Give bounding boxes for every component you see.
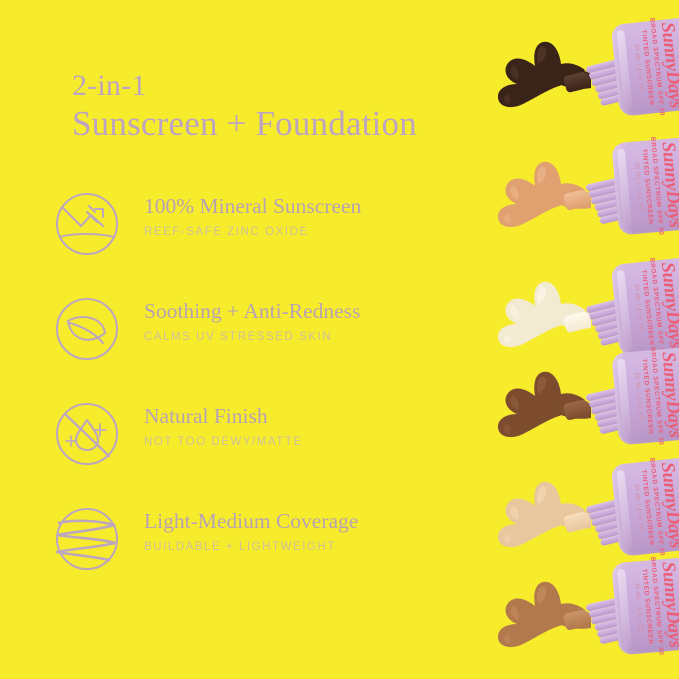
feature-item-natural-finish: Natural Finish NOT TOO DEWY/MATTE: [48, 396, 458, 501]
bottle-label: SunnyDaysBROAD SPECTRUM SPF 30TINTED SUN…: [616, 351, 679, 441]
feature-item-coverage: Light-Medium Coverage BUILDABLE + LIGHTW…: [48, 501, 458, 606]
coverage-swatch-icon: [51, 503, 123, 575]
feature-subtitle: REEF-SAFE ZINC OXIDE: [144, 226, 361, 238]
feature-text-block: 100% Mineral Sunscreen REEF-SAFE ZINC OX…: [144, 194, 361, 238]
feature-subtitle: BUILDABLE + LIGHTWEIGHT: [144, 541, 358, 553]
shade-swatch-espresso: [473, 12, 593, 124]
product-bottle-column: SunnyDaysBROAD SPECTRUM SPF 30TINTED SUN…: [469, 0, 679, 679]
feature-item-soothing: Soothing + Anti-Redness CALMS UV STRESSE…: [48, 291, 458, 396]
feature-title: Soothing + Anti-Redness: [144, 299, 360, 324]
bottle-body: SunnyDaysBROAD SPECTRUM SPF 30TINTED SUN…: [611, 136, 679, 235]
feature-item-mineral-sunscreen: 100% Mineral Sunscreen REEF-SAFE ZINC OX…: [48, 186, 458, 291]
product-bottle[interactable]: SunnyDaysBROAD SPECTRUM SPF 30TINTED SUN…: [581, 136, 679, 238]
product-unit: SunnyDaysBROAD SPECTRUM SPF 30TINTED SUN…: [469, 8, 679, 128]
feature-title: 100% Mineral Sunscreen: [144, 194, 361, 219]
bottle-label: SunnyDaysBROAD SPECTRUM SPF 30TINTED SUN…: [615, 21, 679, 113]
product-bottle[interactable]: SunnyDaysBROAD SPECTRUM SPF 30TINTED SUN…: [581, 456, 679, 560]
bottle-body: SunnyDaysBROAD SPECTRUM SPF 30TINTED SUN…: [611, 556, 679, 655]
feature-title: Natural Finish: [144, 404, 303, 429]
leaf-icon: [51, 293, 123, 365]
headline-line-2: Sunscreen + Foundation: [72, 105, 417, 142]
feature-title: Light-Medium Coverage: [144, 509, 358, 534]
product-unit: SunnyDaysBROAD SPECTRUM SPF 30TINTED SUN…: [469, 548, 679, 668]
bottle-body: SunnyDaysBROAD SPECTRUM SPF 30TINTED SUN…: [611, 346, 679, 445]
bottle-label: SunnyDaysBROAD SPECTRUM SPF 30TINTED SUN…: [616, 141, 679, 231]
product-bottle[interactable]: SunnyDaysBROAD SPECTRUM SPF 30TINTED SUN…: [581, 556, 679, 658]
shade-swatch-medium-brown: [473, 342, 593, 454]
product-infographic: 2-in-1 Sunscreen + Foundation 100% Miner…: [0, 0, 679, 679]
feature-subtitle: NOT TOO DEWY/MATTE: [144, 436, 303, 448]
product-bottle[interactable]: SunnyDaysBROAD SPECTRUM SPF 30TINTED SUN…: [581, 346, 679, 448]
bottle-label: SunnyDaysBROAD SPECTRUM SPF 30TINTED SUN…: [615, 461, 679, 553]
product-bottle[interactable]: SunnyDaysBROAD SPECTRUM SPF 30TINTED SUN…: [581, 16, 679, 120]
feature-text-block: Natural Finish NOT TOO DEWY/MATTE: [144, 404, 303, 448]
no-dewy-droplet-icon: [51, 398, 123, 470]
feature-text-block: Soothing + Anti-Redness CALMS UV STRESSE…: [144, 299, 360, 343]
product-unit: SunnyDaysBROAD SPECTRUM SPF 30TINTED SUN…: [469, 338, 679, 458]
headline-line-1: 2-in-1: [72, 70, 417, 102]
bottle-body: SunnyDaysBROAD SPECTRUM SPF 30TINTED SUN…: [611, 16, 679, 116]
bottle-body: SunnyDaysBROAD SPECTRUM SPF 30TINTED SUN…: [611, 456, 679, 556]
shade-swatch-caramel: [473, 552, 593, 664]
shade-swatch-tan: [473, 132, 593, 244]
product-unit: SunnyDaysBROAD SPECTRUM SPF 30TINTED SUN…: [469, 128, 679, 248]
uv-deflect-icon: [51, 188, 123, 260]
bottle-label: SunnyDaysBROAD SPECTRUM SPF 30TINTED SUN…: [616, 561, 679, 651]
feature-list: 100% Mineral Sunscreen REEF-SAFE ZINC OX…: [48, 186, 458, 606]
feature-text-block: Light-Medium Coverage BUILDABLE + LIGHTW…: [144, 509, 358, 553]
feature-subtitle: CALMS UV STRESSED SKIN: [144, 331, 360, 343]
page-title: 2-in-1 Sunscreen + Foundation: [72, 70, 417, 142]
